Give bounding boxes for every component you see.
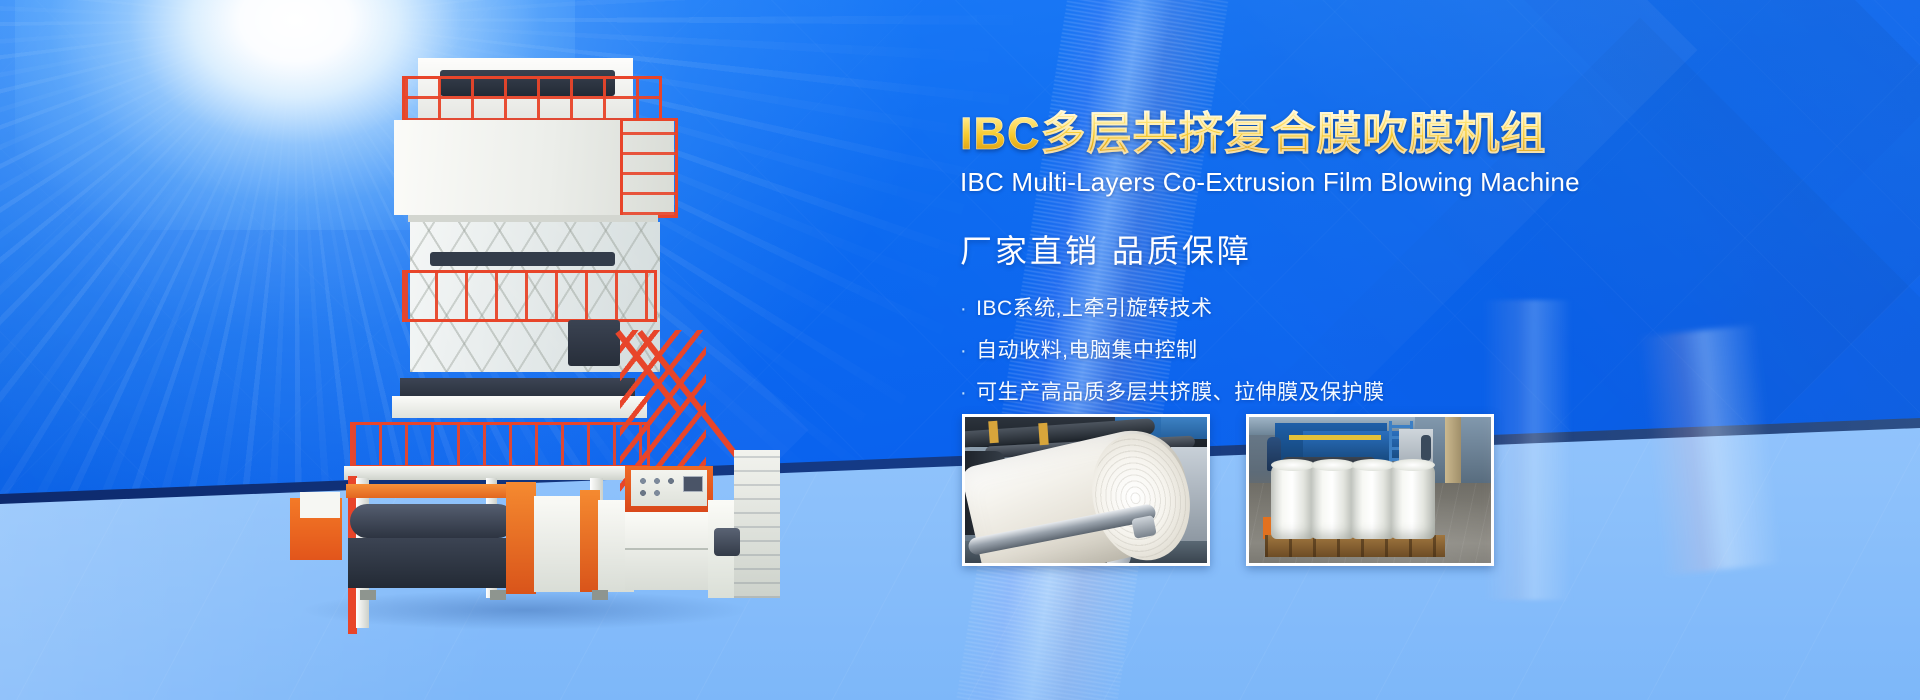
photo-stretch-film-roll bbox=[1351, 463, 1395, 539]
list-item: · 可生产高品质多层共挤膜、拉伸膜及保护膜 bbox=[960, 376, 1660, 406]
photo-roller-band bbox=[988, 421, 999, 444]
product-photo-gallery bbox=[962, 414, 1494, 566]
machine-foot bbox=[360, 590, 376, 600]
feature-list: · IBC系统,上牵引旋转技术 · 自动收料,电脑集中控制 · 可生产高品质多层… bbox=[960, 292, 1660, 406]
machine-motor bbox=[714, 528, 740, 556]
photo-stretch-film-roll bbox=[1271, 463, 1315, 539]
machine-control-screen bbox=[683, 476, 703, 492]
photo-roll-top bbox=[1391, 459, 1435, 471]
machine-control-panel-line bbox=[625, 548, 713, 550]
machine-platform-dark bbox=[400, 378, 635, 398]
machine-orange-frame bbox=[506, 482, 536, 594]
photo-stretch-film-roll bbox=[1391, 463, 1435, 539]
product-photo-film-roll[interactable] bbox=[962, 414, 1210, 566]
machine-left-white-unit bbox=[300, 492, 340, 518]
machine-lower-railing bbox=[350, 422, 650, 468]
bullet-dot-icon: · bbox=[960, 299, 967, 319]
product-photo-pallet-rolls[interactable] bbox=[1246, 414, 1494, 566]
machine-control-panel-body bbox=[625, 512, 713, 590]
list-item: · 自动收料,电脑集中控制 bbox=[960, 334, 1660, 364]
machine-illustration bbox=[290, 30, 770, 640]
photo-roll-shaft-cap bbox=[1131, 515, 1156, 539]
tagline: 厂家直销 品质保障 bbox=[960, 226, 1660, 272]
machine-beam bbox=[408, 215, 658, 222]
machine-foot bbox=[592, 590, 608, 600]
list-item-label: IBC系统,上牵引旋转技术 bbox=[976, 292, 1212, 322]
photo-content bbox=[1249, 417, 1491, 563]
machine-winder-roller bbox=[350, 504, 515, 538]
machine-mid-motor bbox=[568, 320, 620, 366]
machine-top-railing bbox=[402, 76, 662, 124]
machine-electrical-cabinet-detail bbox=[734, 450, 780, 598]
list-item: · IBC系统,上牵引旋转技术 bbox=[960, 292, 1660, 322]
machine-winder-top bbox=[346, 484, 506, 498]
photo-stretch-film-roll bbox=[1311, 463, 1355, 539]
photo-worker bbox=[1421, 435, 1431, 461]
machine-lower-deck bbox=[344, 466, 664, 480]
text-block: IBC多层共挤复合膜吹膜机组 IBC Multi-Layers Co-Extru… bbox=[960, 108, 1660, 418]
promo-banner: IBC多层共挤复合膜吹膜机组 IBC Multi-Layers Co-Extru… bbox=[0, 0, 1920, 700]
machine-upper-side-railing bbox=[620, 118, 678, 218]
photo-roll-top bbox=[1271, 459, 1315, 471]
subtitle-english: IBC Multi-Layers Co-Extrusion Film Blowi… bbox=[960, 167, 1660, 198]
photo-content bbox=[965, 417, 1207, 563]
machine-winder-base bbox=[348, 538, 518, 588]
machine-cabinet bbox=[534, 496, 582, 592]
photo-roll-top bbox=[1351, 459, 1395, 471]
photo-roll-top bbox=[1311, 459, 1355, 471]
machine-platform bbox=[392, 396, 647, 418]
machine-orange-frame bbox=[580, 490, 600, 592]
page-title: IBC多层共挤复合膜吹膜机组 bbox=[960, 108, 1660, 160]
machine-mid-railing bbox=[402, 270, 657, 322]
photo-roll-stack bbox=[1271, 463, 1441, 539]
machine-foot bbox=[490, 590, 506, 600]
photo-machine-yellow-bar bbox=[1289, 435, 1381, 440]
bullet-dot-icon: · bbox=[960, 383, 967, 403]
list-item-label: 自动收料,电脑集中控制 bbox=[976, 334, 1197, 364]
list-item-label: 可生产高品质多层共挤膜、拉伸膜及保护膜 bbox=[976, 376, 1385, 406]
photo-roller-band bbox=[1038, 423, 1049, 446]
machine-mid-roller bbox=[430, 252, 615, 266]
bullet-dot-icon: · bbox=[960, 341, 967, 361]
